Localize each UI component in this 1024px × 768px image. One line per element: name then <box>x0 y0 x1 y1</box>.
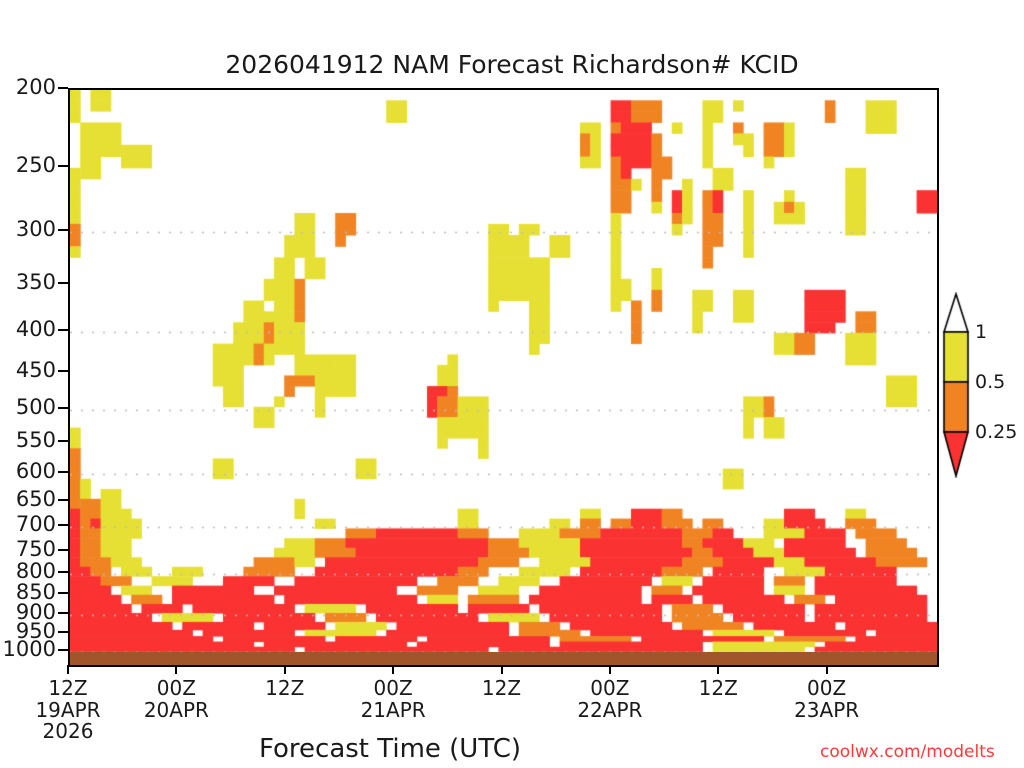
x-axis-tick-line: 12Z <box>225 678 345 700</box>
x-axis-tick-mark <box>392 665 394 674</box>
y-axis-ticks <box>0 0 1024 768</box>
x-axis-tick-label: 00Z20APR <box>116 678 236 721</box>
y-axis-tick-mark <box>58 407 68 409</box>
x-axis-tick-line: 12Z <box>8 678 128 700</box>
x-axis-tick-mark <box>175 665 177 674</box>
x-axis-tick-label: 12Z <box>658 678 778 700</box>
x-axis-tick-mark <box>717 665 719 674</box>
y-axis-tick-mark <box>58 370 68 372</box>
x-axis-tick-line: 23APR <box>767 700 887 722</box>
x-axis-tick-label: 12Z <box>225 678 345 700</box>
x-axis-tick-label: 00Z22APR <box>550 678 670 721</box>
x-axis-tick-line: 19APR <box>8 700 128 722</box>
x-axis-tick-mark <box>609 665 611 674</box>
y-axis-tick-mark <box>58 165 68 167</box>
watermark-link[interactable]: coolwx.com/modelts <box>820 742 1020 762</box>
x-axis-tick-line: 22APR <box>550 700 670 722</box>
colorbar-labels: 10.50.25 <box>941 292 1024 492</box>
y-axis-tick-mark <box>58 282 68 284</box>
y-axis-tick-mark <box>58 571 68 573</box>
y-axis-tick-mark <box>58 471 68 473</box>
y-axis-tick-mark <box>58 592 68 594</box>
x-axis-tick-line: 12Z <box>442 678 562 700</box>
y-axis-tick-mark <box>58 631 68 633</box>
x-axis-title: Forecast Time (UTC) <box>0 734 780 764</box>
y-axis-tick-mark <box>58 229 68 231</box>
x-axis-tick-line: 20APR <box>116 700 236 722</box>
x-axis-tick-line: 12Z <box>658 678 778 700</box>
x-axis-tick-line: 21APR <box>333 700 453 722</box>
y-axis-tick-mark <box>58 329 68 331</box>
colorbar-tick-label: 0.5 <box>975 373 1005 392</box>
y-axis-tick-mark <box>58 612 68 614</box>
chart-root: 2026041912 NAM Forecast Richardson# KCID… <box>0 0 1024 768</box>
x-axis-tick-label: 12Z <box>442 678 562 700</box>
y-axis-tick-mark <box>58 499 68 501</box>
x-axis-tick-label: 00Z23APR <box>767 678 887 721</box>
y-axis-tick-mark <box>58 649 68 651</box>
x-axis-tick-mark <box>826 665 828 674</box>
colorbar-tick-label: 1 <box>975 323 987 342</box>
x-axis-tick-line: 00Z <box>116 678 236 700</box>
x-axis-tick-line: 00Z <box>333 678 453 700</box>
y-axis-tick-mark <box>58 549 68 551</box>
y-axis-tick-mark <box>58 87 68 89</box>
x-axis-tick-line: 00Z <box>767 678 887 700</box>
x-axis-tick-label: 00Z21APR <box>333 678 453 721</box>
x-axis-tick-line: 00Z <box>550 678 670 700</box>
x-axis-tick-mark <box>284 665 286 674</box>
colorbar-tick-label: 0.25 <box>975 423 1017 442</box>
y-axis-tick-mark <box>58 440 68 442</box>
x-axis-tick-mark <box>67 665 69 674</box>
x-axis-tick-mark <box>501 665 503 674</box>
y-axis-tick-mark <box>58 524 68 526</box>
